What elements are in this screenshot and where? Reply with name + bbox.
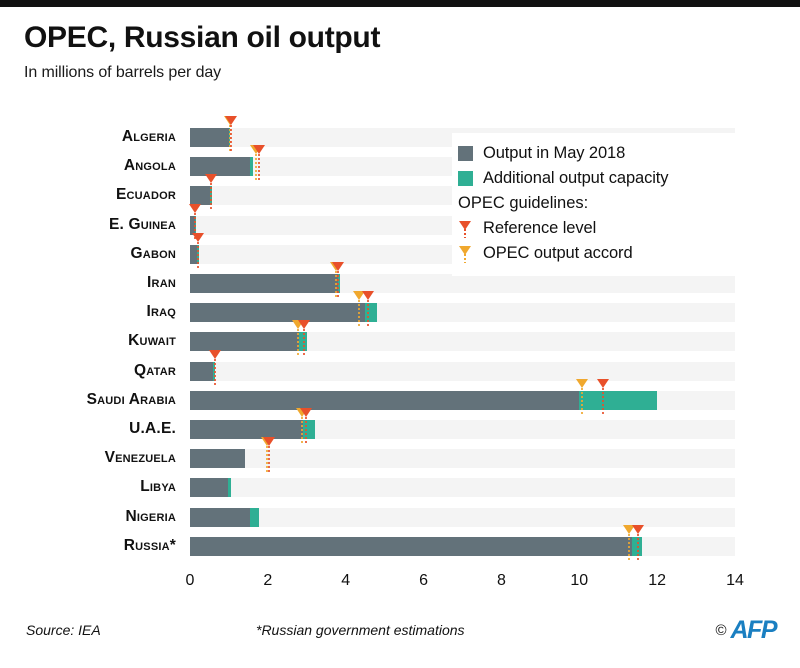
- marker-reference-level-icon: [253, 145, 265, 154]
- category-label: Iran: [0, 272, 176, 293]
- chart-row: Libya: [0, 472, 800, 501]
- bar-additional-capacity: [228, 478, 231, 497]
- chart-legend: Output in May 2018 Additional output cap…: [452, 133, 794, 276]
- marker-reference-level-icon: [632, 525, 644, 534]
- legend-label-output: Output in May 2018: [483, 144, 625, 163]
- category-label: Angola: [0, 155, 176, 176]
- marker-reference-level-stem: [210, 183, 212, 209]
- category-label: Kuwait: [0, 330, 176, 351]
- category-label: Saudi Arabia: [0, 389, 176, 410]
- marker-reference-level-icon: [597, 379, 609, 388]
- category-label: Venezuela: [0, 447, 176, 468]
- marker-reference-level-stem: [602, 388, 604, 414]
- legend-item-reference-level: Reference level: [458, 216, 788, 241]
- page-title: OPEC, Russian oil output: [24, 21, 800, 54]
- category-label: U.A.E.: [0, 418, 176, 439]
- marker-reference-level-stem: [197, 242, 199, 268]
- legend-swatch-capacity: [458, 171, 473, 186]
- marker-reference-level-icon: [332, 262, 344, 271]
- category-label: Qatar: [0, 360, 176, 381]
- marker-reference-level-icon: [298, 320, 310, 329]
- top-rule: [0, 0, 800, 7]
- legend-label-capacity: Additional output capacity: [483, 169, 668, 188]
- marker-reference-level-stem: [268, 446, 270, 472]
- page-subtitle: In millions of barrels per day: [24, 64, 800, 82]
- marker-reference-level-stem: [258, 154, 260, 180]
- row-background: [190, 449, 735, 468]
- legend-swatch-output: [458, 146, 473, 161]
- chart-row: Nigeria: [0, 502, 800, 531]
- header: OPEC, Russian oil output In millions of …: [0, 7, 800, 82]
- category-label: Libya: [0, 476, 176, 497]
- legend-guidelines-heading: OPEC guidelines:: [458, 191, 788, 216]
- reference-level-marker-icon: [458, 219, 473, 239]
- row-background: [190, 508, 735, 527]
- bar-output: [190, 478, 228, 497]
- marker-reference-level-stem: [214, 359, 216, 385]
- marker-reference-level-icon: [192, 233, 204, 242]
- marker-reference-level-stem: [637, 534, 639, 560]
- chart-row: Kuwait: [0, 326, 800, 355]
- category-label: E. Guinea: [0, 214, 176, 235]
- category-label: Russia*: [0, 535, 176, 556]
- category-label: Algeria: [0, 126, 176, 147]
- bar-output: [190, 274, 338, 293]
- marker-opec-accord-stem: [297, 329, 299, 355]
- row-background: [190, 478, 735, 497]
- bar-output: [190, 449, 245, 468]
- bar-output: [190, 362, 213, 381]
- legend-label-opec-accord: OPEC output accord: [483, 244, 633, 263]
- marker-reference-level-icon: [205, 174, 217, 183]
- bar-output: [190, 391, 579, 410]
- footer-source: Source: IEA: [26, 622, 101, 638]
- bar-output: [190, 157, 250, 176]
- marker-reference-level-icon: [263, 437, 275, 446]
- chart-row: U.A.E.: [0, 414, 800, 443]
- legend-item-output: Output in May 2018: [458, 141, 788, 166]
- category-label: Ecuador: [0, 184, 176, 205]
- bar-output: [190, 537, 632, 556]
- legend-item-capacity: Additional output capacity: [458, 166, 788, 191]
- x-axis-tick: 8: [497, 572, 506, 590]
- marker-reference-level-icon: [225, 116, 237, 125]
- marker-reference-level-icon: [300, 408, 312, 417]
- legend-label-reference-level: Reference level: [483, 219, 596, 238]
- copyright-icon: ©: [715, 622, 726, 639]
- x-axis-tick: 2: [263, 572, 272, 590]
- afp-logo: AFP: [731, 618, 777, 643]
- marker-opec-accord-stem: [581, 388, 583, 414]
- chart-row: Iraq: [0, 297, 800, 326]
- legend-item-opec-accord: OPEC output accord: [458, 241, 788, 266]
- marker-reference-level-stem: [367, 300, 369, 326]
- chart-row: Saudi Arabia: [0, 385, 800, 414]
- bar-output: [190, 128, 229, 147]
- marker-reference-level-icon: [362, 291, 374, 300]
- category-label: Iraq: [0, 301, 176, 322]
- marker-reference-level-icon: [189, 204, 201, 213]
- x-axis-tick: 14: [726, 572, 744, 590]
- bar-output: [190, 332, 299, 351]
- x-axis-tick: 12: [648, 572, 666, 590]
- marker-opec-accord-stem: [358, 300, 360, 326]
- bar-output: [190, 186, 210, 205]
- bar-additional-capacity: [579, 391, 657, 410]
- marker-reference-level-stem: [303, 329, 305, 355]
- marker-opec-accord-stem: [628, 534, 630, 560]
- row-background: [190, 362, 735, 381]
- marker-reference-level-icon: [209, 350, 221, 359]
- marker-opec-accord-stem: [255, 154, 257, 180]
- x-axis-tick: 0: [186, 572, 195, 590]
- x-axis-tick: 10: [570, 572, 588, 590]
- bar-output: [190, 420, 303, 439]
- category-label: Gabon: [0, 243, 176, 264]
- marker-reference-level-stem: [230, 125, 232, 151]
- bar-output: [190, 508, 250, 527]
- x-axis: 02468101214: [0, 560, 800, 600]
- marker-opec-accord-icon: [576, 379, 588, 388]
- marker-reference-level-stem: [305, 417, 307, 443]
- x-axis-tick: 6: [419, 572, 428, 590]
- x-axis-tick: 4: [341, 572, 350, 590]
- marker-reference-level-stem: [337, 271, 339, 297]
- bar-output: [190, 303, 365, 322]
- chart-row: Qatar: [0, 356, 800, 385]
- category-label: Nigeria: [0, 506, 176, 527]
- footer-note: *Russian government estimations: [256, 622, 465, 638]
- bar-additional-capacity: [250, 508, 259, 527]
- chart-row: Venezuela: [0, 443, 800, 472]
- footer: Source: IEA *Russian government estimati…: [0, 612, 800, 656]
- chart-row: Russia*: [0, 531, 800, 560]
- opec-accord-marker-icon: [458, 244, 473, 264]
- afp-credit: © AFP: [715, 618, 776, 643]
- bar-additional-capacity: [250, 157, 253, 176]
- marker-opec-accord-stem: [301, 417, 303, 443]
